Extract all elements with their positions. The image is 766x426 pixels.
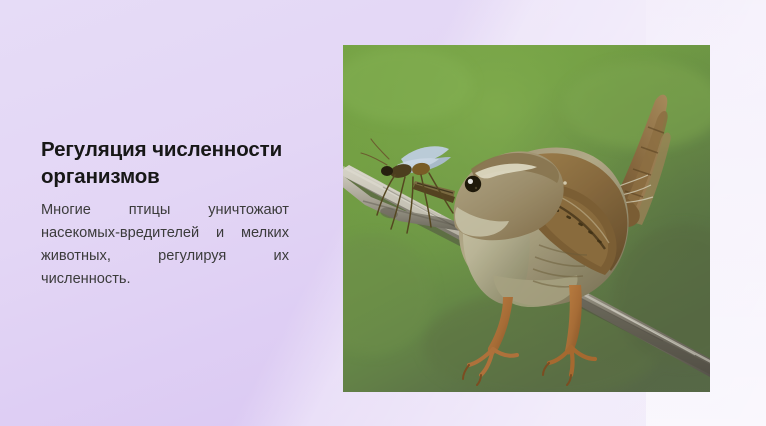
text-column: Регуляция численности организмов Многие … bbox=[41, 136, 289, 291]
body-paragraph: Многие птицы уничтожают насекомых-вредит… bbox=[41, 199, 289, 291]
wren-photo-illustration bbox=[343, 45, 710, 392]
page-title: Регуляция численности организмов bbox=[41, 136, 289, 190]
slide: Регуляция численности организмов Многие … bbox=[0, 0, 766, 426]
wren-with-insect-photo bbox=[343, 45, 710, 392]
